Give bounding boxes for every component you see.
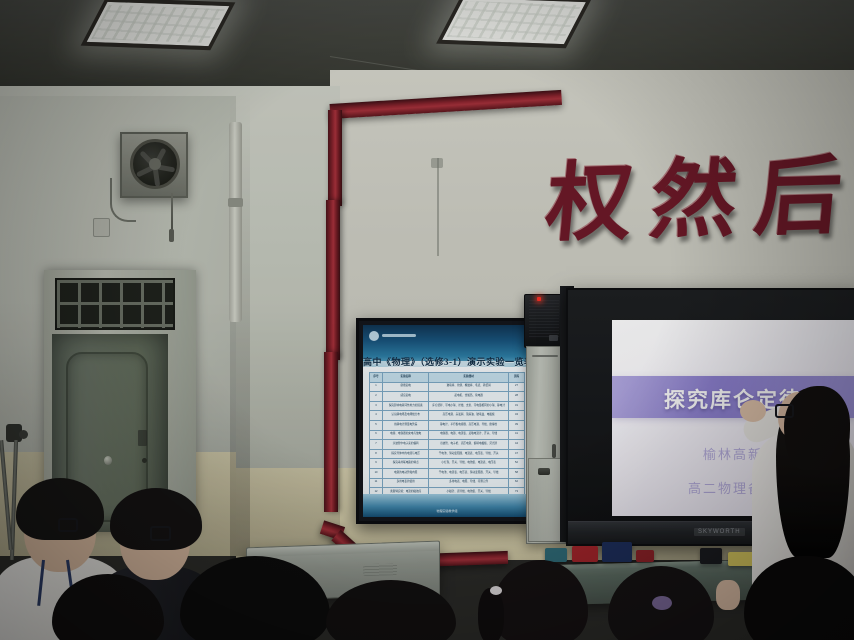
poster-cell: 4	[370, 411, 383, 421]
teacher-hand-pointing	[740, 400, 766, 422]
poster-column-header: 实验名称	[383, 373, 429, 383]
poster-cell: 静电计、平行板电容器、高压电源、导线、绝缘柱	[429, 420, 509, 430]
bench-item-blue-case[interactable]	[602, 542, 632, 562]
poster-logo-text	[382, 334, 416, 337]
poster-cell: 探究影响电荷间作用力的因素	[383, 401, 429, 411]
poster-footer-band	[363, 494, 531, 517]
smartboard-brand-label: SKYWORTH	[694, 528, 745, 536]
poster-cell: 47	[508, 449, 524, 459]
poster-cell: 认识静电场及电场线分布	[383, 411, 429, 421]
poster-cell: 示波管中电子束的偏转	[383, 440, 429, 450]
poster-table-row: 9探究串并联电路的特点小灯泡、开关、导线、电池组、电流表、电压表52	[370, 459, 525, 469]
poster-cell: 10	[370, 468, 383, 478]
ceiling-light-left	[87, 2, 230, 46]
speaker-label	[549, 335, 558, 341]
hair-tie	[652, 596, 672, 610]
poster-cell: 电容、电容器的充电与放电	[383, 430, 429, 440]
cabinet-cable	[552, 444, 556, 458]
bench-item-red-apparatus[interactable]	[572, 546, 598, 562]
poster-cell: 28	[508, 392, 524, 402]
wall-pipe-lower	[324, 352, 338, 512]
poster-cell: 7	[370, 440, 383, 450]
exhaust-fan-blades	[130, 139, 180, 189]
cabinet-handle[interactable]	[538, 468, 550, 475]
tripod-knob[interactable]	[19, 430, 28, 439]
speaker-mesh	[529, 299, 559, 337]
poster-cell: 玻璃棒、丝绸、橡胶棒、毛皮、碎纸屑	[429, 382, 509, 392]
poster-cell: 感应起电	[383, 392, 429, 402]
poster-cell: 62	[508, 478, 524, 488]
ceiling-light-right	[442, 0, 586, 44]
observer-glasses	[58, 518, 78, 532]
podium-vent-right	[363, 563, 397, 576]
poster-table-header-row: 序号实验名称实验器材页码	[370, 373, 525, 383]
poster-cell: 电容器、电源、电流表、灵敏电流计、开关、导线	[429, 430, 509, 440]
door-knob[interactable]	[104, 456, 112, 465]
light-diffuser	[91, 5, 225, 43]
poster-cell: 11	[370, 478, 383, 488]
wall-wire-clip	[431, 158, 443, 168]
poster-cell: 用静电计测量电势差	[383, 420, 429, 430]
poster-column-header: 页码	[508, 373, 524, 383]
transom-bars	[57, 280, 173, 328]
poster-cell: 多用电表、电阻、导线、待测元件	[429, 478, 509, 488]
teacher-hair-top	[784, 386, 850, 470]
wall-pipe-upper	[328, 110, 342, 206]
poster-cell: 1	[370, 382, 383, 392]
poster-table-row: 7示波管中电子束的偏转示波管、电子枪、高压电源、偏转电极板、荧光屏44	[370, 440, 525, 450]
poster-cell: 3	[370, 401, 383, 411]
poster-table-row: 3探究影响电荷间作用力的因素库仑扭秤、带电小球、丝线、支架、带电量相同的小球、静…	[370, 401, 525, 411]
poster-cell: 58	[508, 468, 524, 478]
classroom-photo-scene: 权然后知轻	[0, 0, 854, 640]
poster-logo-icon	[369, 331, 379, 341]
poster-cell: 6	[370, 430, 383, 440]
poster-column-header: 实验器材	[429, 373, 509, 383]
fan-power-wire	[110, 178, 136, 222]
poster-table-row: 5用静电计测量电势差静电计、平行板电容器、高压电源、导线、绝缘柱39	[370, 420, 525, 430]
fan-hub	[149, 158, 161, 170]
poster-surface: 高中《物理》（选修3-1）演示实验一览表 序号实验名称实验器材页码1摩擦起电玻璃…	[363, 325, 531, 517]
poster-table-row: 6电容、电容器的充电与放电电容器、电源、电流表、灵敏电流计、开关、导线41	[370, 430, 525, 440]
observer2-glasses	[150, 526, 171, 541]
poster-cell: 44	[508, 440, 524, 450]
poster-column-header: 序号	[370, 373, 383, 383]
wall-downspout	[229, 122, 242, 322]
speaker-power-led	[537, 297, 541, 301]
poster-cell: 31	[508, 401, 524, 411]
poster-cell: 起电机、金属箔、验电器	[429, 392, 509, 402]
poster-cell: 34	[508, 411, 524, 421]
poster-table-row: 8探究导体中的电流与电压干电池、滑动变阻器、电流表、电压表、导线、开关47	[370, 449, 525, 459]
wall-speaker	[524, 294, 564, 348]
poster-cell: 5	[370, 420, 383, 430]
fan-pull-cord[interactable]	[171, 193, 173, 231]
door-plate	[138, 430, 147, 446]
physics-experiment-poster: 高中《物理》（选修3-1）演示实验一览表 序号实验名称实验器材页码1摩擦起电玻璃…	[356, 318, 538, 524]
poster-table-row: 1摩擦起电玻璃棒、丝绸、橡胶棒、毛皮、碎纸屑27	[370, 382, 525, 392]
downspout-band	[228, 198, 243, 207]
wall-wire	[437, 158, 439, 256]
hair-tie	[490, 586, 502, 595]
poster-cell: 27	[508, 382, 524, 392]
poster-cell: 52	[508, 459, 524, 469]
poster-cell: 示波管、电子枪、高压电源、偏转电极板、荧光屏	[429, 440, 509, 450]
poster-cell: 探究串并联电路的特点	[383, 459, 429, 469]
poster-cell: 电源的电动势和内阻	[383, 468, 429, 478]
poster-cell: 干电池、滑动变阻器、电流表、电压表、导线、开关	[429, 449, 509, 459]
poster-cell: 41	[508, 430, 524, 440]
poster-title: 高中《物理》（选修3-1）演示实验一览表	[363, 355, 531, 368]
light-diffuser	[447, 1, 582, 41]
poster-cell: 多用电表的使用	[383, 478, 429, 488]
teacher-glasses	[775, 404, 794, 418]
poster-cell: 探究导体中的电流与电压	[383, 449, 429, 459]
door-lock[interactable]	[142, 458, 147, 463]
door-transom-grille	[55, 278, 175, 330]
student-raised-hand	[716, 580, 740, 610]
student-ponytail	[478, 588, 504, 640]
poster-cell: 摩擦起电	[383, 382, 429, 392]
bench-item-red-small[interactable]	[636, 550, 654, 562]
poster-table-row: 4认识静电场及电场线分布高压电源、头发屑、蓖麻油、玻璃皿、电极板34	[370, 411, 525, 421]
poster-cell: 高压电源、头发屑、蓖麻油、玻璃皿、电极板	[429, 411, 509, 421]
bench-item-black-meter[interactable]	[700, 548, 722, 564]
poster-cell: 库仑扭秤、带电小球、丝线、支架、带电量相同的小球、静电计	[429, 401, 509, 411]
wall-outlet[interactable]	[93, 218, 110, 237]
poster-cell: 干电池、电流表、电压表、滑动变阻器、开关、导线	[429, 468, 509, 478]
fan-cord-weight[interactable]	[169, 229, 174, 242]
poster-cell: 8	[370, 449, 383, 459]
poster-table-row: 2感应起电起电机、金属箔、验电器28	[370, 392, 525, 402]
poster-cell: 9	[370, 459, 383, 469]
poster-table-row: 10电源的电动势和内阻干电池、电流表、电压表、滑动变阻器、开关、导线58	[370, 468, 525, 478]
poster-cell: 2	[370, 392, 383, 402]
poster-table-row: 11多用电表的使用多用电表、电阻、导线、待测元件62	[370, 478, 525, 488]
poster-cell: 39	[508, 420, 524, 430]
poster-footer-text: 物理实验教学组	[363, 509, 531, 513]
poster-cell: 小灯泡、开关、导线、电池组、电流表、电压表	[429, 459, 509, 469]
wall-pipe-mid	[326, 200, 340, 360]
wall-calligraphy: 权然后知轻	[541, 119, 854, 258]
